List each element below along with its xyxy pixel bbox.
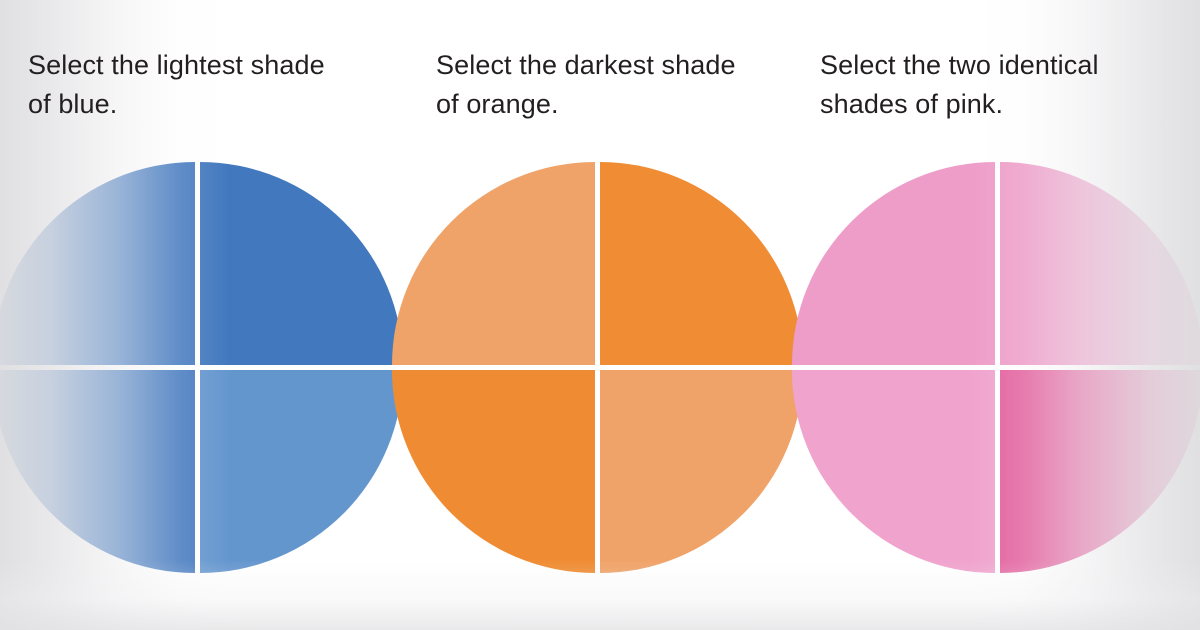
blue-quadrant-top-right[interactable]	[200, 162, 403, 365]
orange-quadrant-top-right[interactable]	[600, 162, 803, 365]
orange-swatch-bottom-left	[392, 370, 595, 573]
prompt-identical-pinks: Select the two identical shades of pink.	[820, 46, 1192, 124]
color-wheel-pink	[792, 162, 1200, 578]
prompt-group: Select the lightest shade of blue. Selec…	[0, 0, 1200, 150]
orange-swatch-bottom-right	[600, 370, 803, 573]
orange-swatch-top-right	[600, 162, 803, 365]
blue-quadrant-bottom-left[interactable]	[0, 370, 195, 573]
prompt-lightest-blue: Select the lightest shade of blue.	[28, 46, 388, 124]
pink-swatch-top-right	[1000, 162, 1200, 365]
orange-swatch-top-left	[392, 162, 595, 365]
pink-quadrant-top-right[interactable]	[1000, 162, 1200, 365]
pink-quadrant-bottom-left[interactable]	[792, 370, 995, 573]
pink-swatch-top-left	[792, 162, 995, 365]
blue-swatch-top-left	[0, 162, 195, 365]
orange-quadrant-top-left[interactable]	[392, 162, 595, 365]
orange-quadrant-bottom-left[interactable]	[392, 370, 595, 573]
orange-quadrant-bottom-right[interactable]	[600, 370, 803, 573]
pink-quadrant-top-left[interactable]	[792, 162, 995, 365]
color-wheel-blue	[0, 162, 408, 578]
pink-swatch-bottom-right	[1000, 370, 1200, 573]
blue-quadrant-top-left[interactable]	[0, 162, 195, 365]
quiz-canvas: Select the lightest shade of blue. Selec…	[0, 0, 1200, 630]
prompt-darkest-orange: Select the darkest shade of orange.	[436, 46, 796, 124]
blue-swatch-top-right	[200, 162, 403, 365]
color-wheel-orange	[392, 162, 808, 578]
blue-swatch-bottom-left	[0, 370, 195, 573]
pink-swatch-bottom-left	[792, 370, 995, 573]
pink-quadrant-bottom-right[interactable]	[1000, 370, 1200, 573]
blue-swatch-bottom-right	[200, 370, 403, 573]
blue-quadrant-bottom-right[interactable]	[200, 370, 403, 573]
